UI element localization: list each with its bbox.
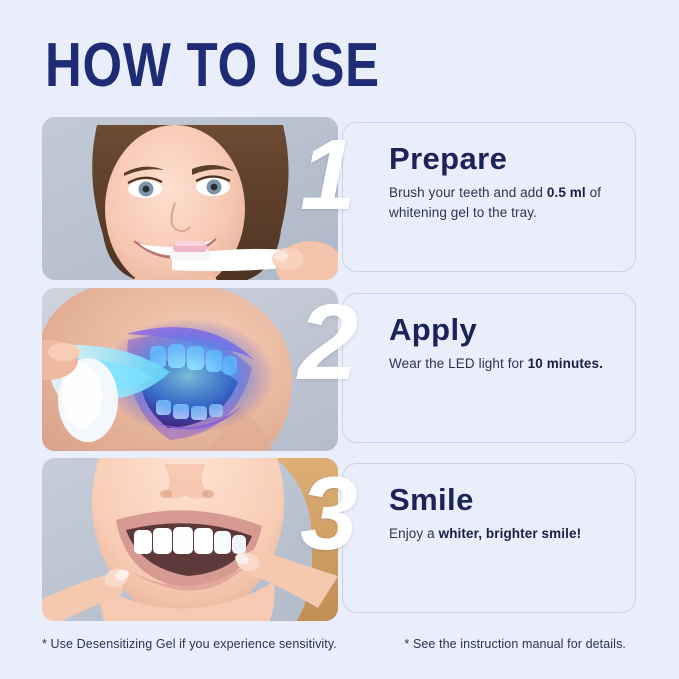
step-desc-bold-2: 10 minutes. [528,356,603,371]
illustration-svg-2 [42,288,338,451]
step-desc-bold-3: whiter, brighter smile! [439,526,582,541]
footnote-right: * See the instruction manual for details… [404,637,638,651]
step-desc-bold-1: 0.5 ml [547,185,586,200]
step-title-2: Apply [389,312,621,348]
step-desc-before-1: Brush your teeth and add [389,185,547,200]
footnotes: * Use Desensitizing Gel if you experienc… [42,637,638,651]
step-desc-before-2: Wear the LED light for [389,356,528,371]
photo-illustration-led-device [42,288,338,451]
footnote-left: * Use Desensitizing Gel if you experienc… [42,637,337,651]
step-text-card-3: Smile Enjoy a whiter, brighter smile! [342,463,636,613]
illustration-svg-3 [42,458,338,621]
step-description-3: Enjoy a whiter, brighter smile! [389,524,621,544]
photo-illustration-toothbrush [42,117,338,280]
illustration-svg-1 [42,117,338,280]
step-title-1: Prepare [389,141,621,177]
step-description-1: Brush your teeth and add 0.5 ml of white… [389,183,621,223]
step-row-1: Prepare Brush your teeth and add 0.5 ml … [42,117,638,280]
step-description-2: Wear the LED light for 10 minutes. [389,354,621,374]
photo-illustration-smile [42,458,338,621]
step-title-3: Smile [389,482,621,518]
step-image-1 [42,117,338,280]
step-image-2 [42,288,338,451]
step-desc-before-3: Enjoy a [389,526,439,541]
step-text-card-2: Apply Wear the LED light for 10 minutes. [342,293,636,443]
infographic-page: HOW TO USE Prepare Brush your teeth and … [0,0,679,679]
step-text-card-1: Prepare Brush your teeth and add 0.5 ml … [342,122,636,272]
step-image-3 [42,458,338,621]
page-title: HOW TO USE [45,30,380,102]
step-row-3: Smile Enjoy a whiter, brighter smile! [42,458,638,621]
step-row-2: Apply Wear the LED light for 10 minutes. [42,288,638,451]
